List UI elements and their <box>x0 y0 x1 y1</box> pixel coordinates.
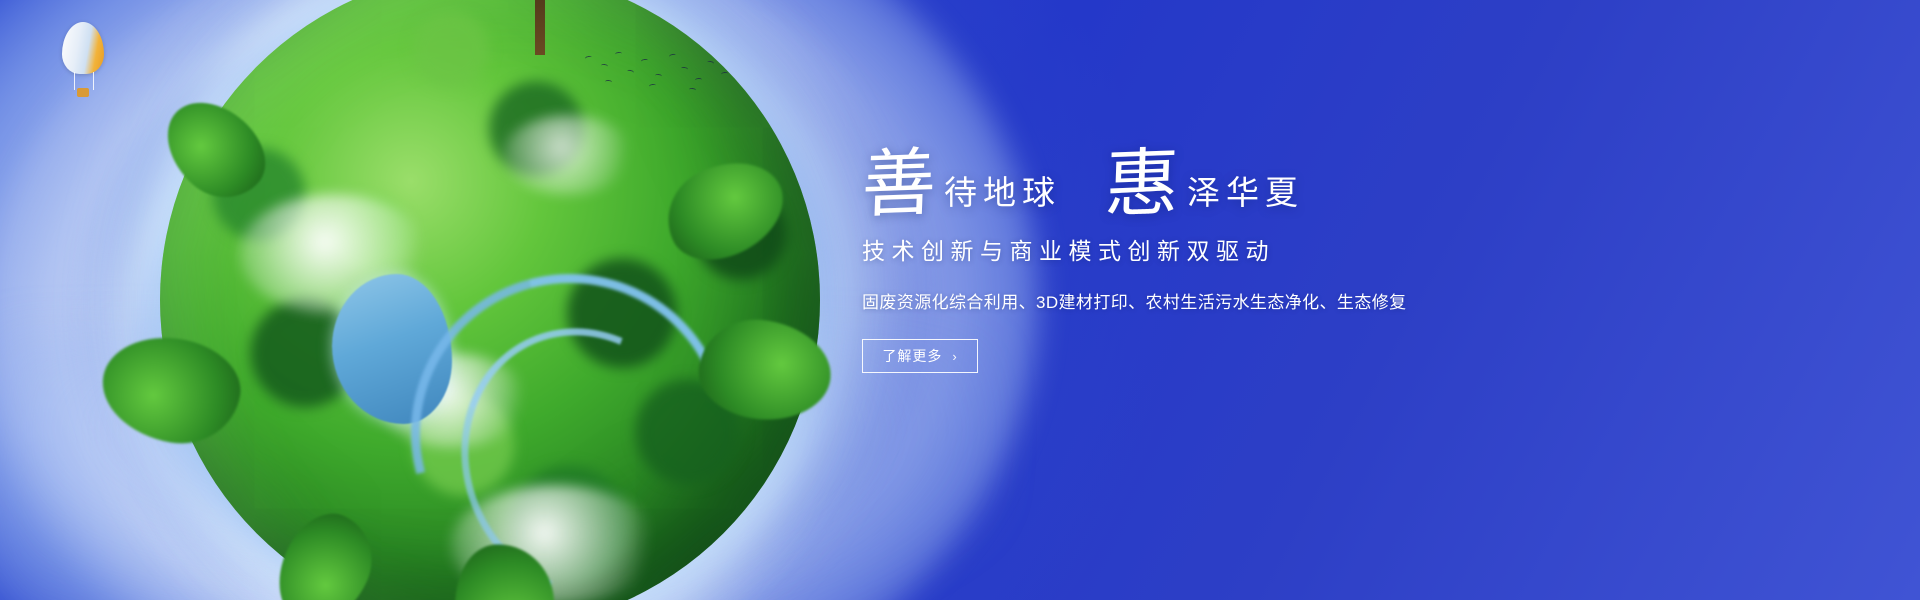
chevron-right-icon: › <box>952 350 957 363</box>
headline-char-large-one: 善 <box>861 149 938 220</box>
banner-description: 固废资源化综合利用、3D建材打印、农村生活污水生态净化、生态修复 <box>862 288 1562 313</box>
tree-trunk <box>535 0 545 55</box>
headline-phrase-one: 善 待地球 <box>862 150 1061 218</box>
large-tree <box>450 0 630 55</box>
learn-more-button[interactable]: 了解更多 › <box>862 339 978 373</box>
headline-chars-small-two: 泽华夏 <box>1187 176 1304 218</box>
learn-more-label: 了解更多 <box>882 346 942 366</box>
banner-subtitle: 技术创新与商业模式创新双驱动 <box>862 232 1562 266</box>
hot-air-balloon <box>62 22 104 118</box>
banner-content: 善 待地球 惠 泽华夏 技术创新与商业模式创新双驱动 固废资源化综合利用、3D建… <box>862 126 1562 373</box>
banner-headline: 善 待地球 惠 泽华夏 <box>862 126 1562 218</box>
balloon-envelope <box>62 22 104 74</box>
headline-phrase-two: 惠 泽华夏 <box>1105 150 1304 218</box>
edge-tree <box>694 314 836 426</box>
edge-tree <box>451 541 559 600</box>
hero-banner: 善 待地球 惠 泽华夏 技术创新与商业模式创新双驱动 固废资源化综合利用、3D建… <box>0 0 1920 600</box>
headline-char-large-two: 惠 <box>1104 149 1181 220</box>
flying-birds <box>585 50 735 96</box>
balloon-basket <box>77 88 89 97</box>
headline-chars-small-one: 待地球 <box>944 176 1061 218</box>
